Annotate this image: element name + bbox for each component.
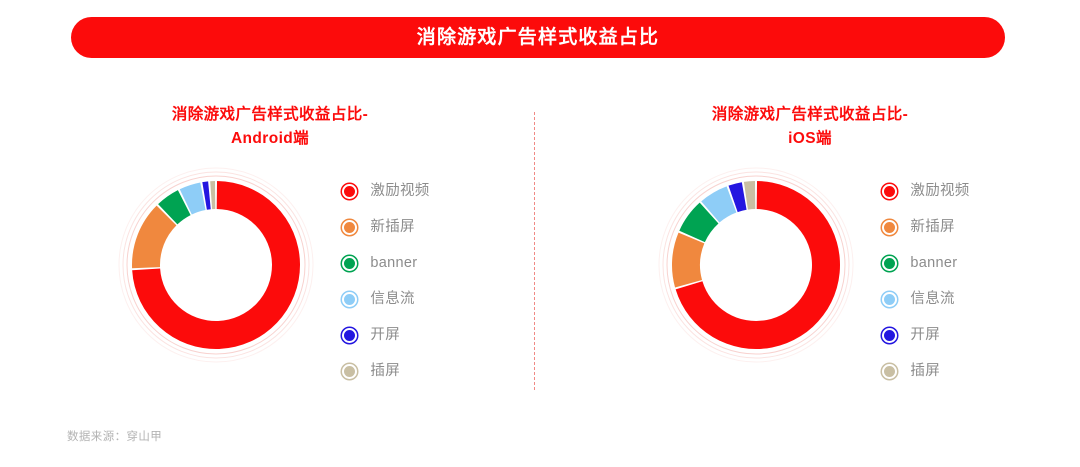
legend-label-interstitial: 插屏 (370, 364, 400, 379)
legend-android: 激励视频 新插屏 banner 信息流 开屏 (342, 173, 429, 389)
legend-marker-feed (342, 292, 357, 307)
chart-title-ios: 消除游戏广告样式收益占比- iOS端 (712, 103, 908, 151)
data-source-note: 数据来源：穿山甲 (67, 428, 162, 444)
legend-label-banner: banner (910, 256, 957, 271)
legend-marker-splash (882, 328, 897, 343)
legend-item-incentive-video[interactable]: 激励视频 (342, 173, 429, 209)
chart-title-ios-line1: 消除游戏广告样式收益占比- (712, 106, 908, 123)
legend-item-feed[interactable]: 信息流 (342, 281, 429, 317)
legend-item-banner[interactable]: banner (342, 245, 429, 281)
chart-title-ios-line2: iOS端 (788, 130, 832, 147)
legend-label-splash: 开屏 (910, 328, 940, 343)
legend-item-banner[interactable]: banner (882, 245, 969, 281)
donut-chart-ios[interactable] (656, 165, 856, 365)
legend-item-new-interstitial[interactable]: 新插屏 (342, 209, 429, 245)
chart-panel-ios: 消除游戏广告样式收益占比- iOS端 激励视频 (540, 90, 1080, 400)
chart-row-android: 激励视频 新插屏 banner 信息流 开屏 (0, 165, 540, 389)
donut-segments-ios (672, 181, 840, 349)
legend-item-feed[interactable]: 信息流 (882, 281, 969, 317)
legend-label-feed: 信息流 (910, 292, 954, 307)
legend-item-splash[interactable]: 开屏 (342, 317, 429, 353)
donut-svg-android (116, 165, 316, 365)
donut-segment[interactable] (672, 233, 704, 288)
legend-label-new-interstitial: 新插屏 (910, 220, 954, 235)
legend-marker-new-interstitial (882, 220, 897, 235)
legend-marker-feed (882, 292, 897, 307)
chart-title-android-line2: Android端 (231, 130, 309, 147)
donut-segments-android (132, 181, 300, 349)
legend-label-splash: 开屏 (370, 328, 400, 343)
legend-marker-banner (342, 256, 357, 271)
legend-item-splash[interactable]: 开屏 (882, 317, 969, 353)
legend-item-interstitial[interactable]: 插屏 (342, 353, 429, 389)
legend-marker-interstitial (342, 364, 357, 379)
legend-marker-banner (882, 256, 897, 271)
panel-divider (534, 112, 535, 390)
legend-item-new-interstitial[interactable]: 新插屏 (882, 209, 969, 245)
legend-label-banner: banner (370, 256, 417, 271)
legend-label-new-interstitial: 新插屏 (370, 220, 414, 235)
chart-title-android-line1: 消除游戏广告样式收益占比- (172, 106, 368, 123)
charts-container: 消除游戏广告样式收益占比- Android端 激励视频 (0, 90, 1080, 400)
legend-marker-interstitial (882, 364, 897, 379)
legend-marker-splash (342, 328, 357, 343)
legend-label-feed: 信息流 (370, 292, 414, 307)
donut-segment[interactable] (211, 181, 216, 209)
legend-item-interstitial[interactable]: 插屏 (882, 353, 969, 389)
legend-label-interstitial: 插屏 (910, 364, 940, 379)
legend-label-incentive-video: 激励视频 (910, 184, 969, 199)
legend-marker-incentive-video (342, 184, 357, 199)
legend-marker-new-interstitial (342, 220, 357, 235)
chart-row-ios: 激励视频 新插屏 banner 信息流 开屏 (540, 165, 1080, 389)
page-title: 消除游戏广告样式收益占比 (417, 28, 659, 47)
chart-title-android: 消除游戏广告样式收益占比- Android端 (172, 103, 368, 151)
chart-panel-android: 消除游戏广告样式收益占比- Android端 激励视频 (0, 90, 540, 400)
donut-svg-ios (656, 165, 856, 365)
legend-label-incentive-video: 激励视频 (370, 184, 429, 199)
legend-ios: 激励视频 新插屏 banner 信息流 开屏 (882, 173, 969, 389)
legend-marker-incentive-video (882, 184, 897, 199)
page-title-banner: 消除游戏广告样式收益占比 (71, 17, 1005, 58)
legend-item-incentive-video[interactable]: 激励视频 (882, 173, 969, 209)
donut-chart-android[interactable] (116, 165, 316, 365)
